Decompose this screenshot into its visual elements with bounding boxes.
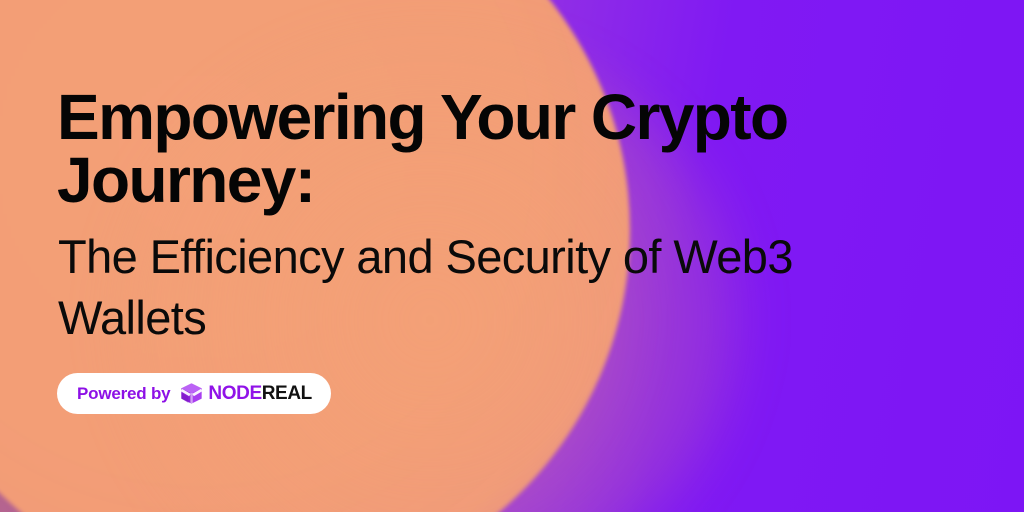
banner-headline: Empowering Your Crypto Journey: <box>57 86 887 212</box>
wordmark-node: NODE <box>208 383 261 404</box>
wordmark-real: REAL <box>262 383 312 404</box>
powered-by-label: Powered by <box>77 384 170 404</box>
nodereal-cube-icon <box>179 381 204 406</box>
banner-content: Empowering Your Crypto Journey: The Effi… <box>0 0 1024 512</box>
promo-banner: Empowering Your Crypto Journey: The Effi… <box>0 0 1024 512</box>
nodereal-wordmark: NODEREAL <box>208 384 311 403</box>
banner-subheadline: The Efficiency and Security of Web3 Wall… <box>58 226 848 348</box>
powered-by-badge: Powered by NODEREAL <box>57 373 331 414</box>
nodereal-logo: NODEREAL <box>179 381 311 406</box>
